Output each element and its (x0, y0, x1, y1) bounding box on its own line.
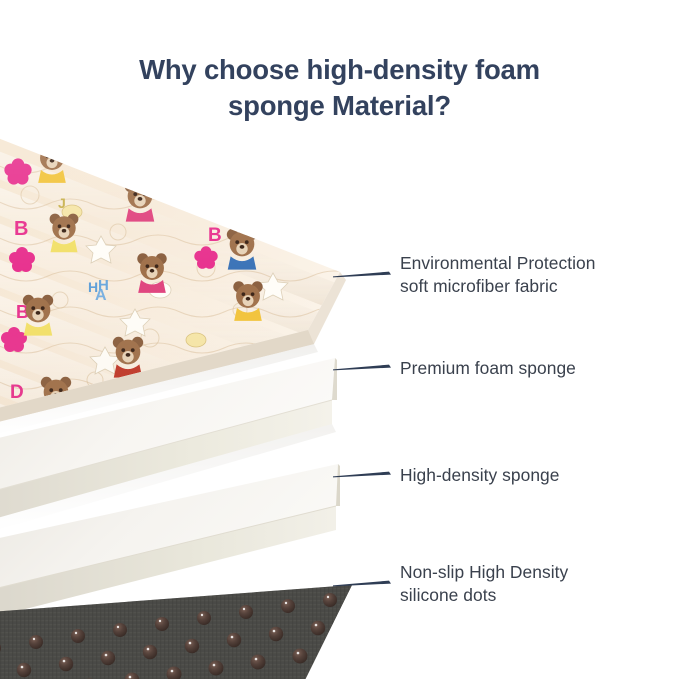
callout-label: Non-slip High Density silicone dots (391, 561, 568, 606)
callout-non-slip-silicone-dots: Non-slip High Density silicone dots (333, 561, 568, 606)
callout-premium-foam-sponge: Premium foam sponge (333, 357, 576, 380)
infographic-canvas: Why choose high-density foam sponge Mate… (0, 0, 679, 679)
leader-line-icon (333, 361, 391, 375)
leader-line-icon (333, 468, 391, 482)
callout-environmental-protection: Environmental Protection soft microfiber… (333, 252, 596, 297)
callout-label: High-density sponge (391, 464, 560, 487)
leader-line-icon (333, 577, 391, 591)
leader-line-icon (333, 268, 391, 282)
callout-high-density-sponge: High-density sponge (333, 464, 560, 487)
callout-label: Premium foam sponge (391, 357, 576, 380)
callout-label: Environmental Protection soft microfiber… (391, 252, 596, 297)
